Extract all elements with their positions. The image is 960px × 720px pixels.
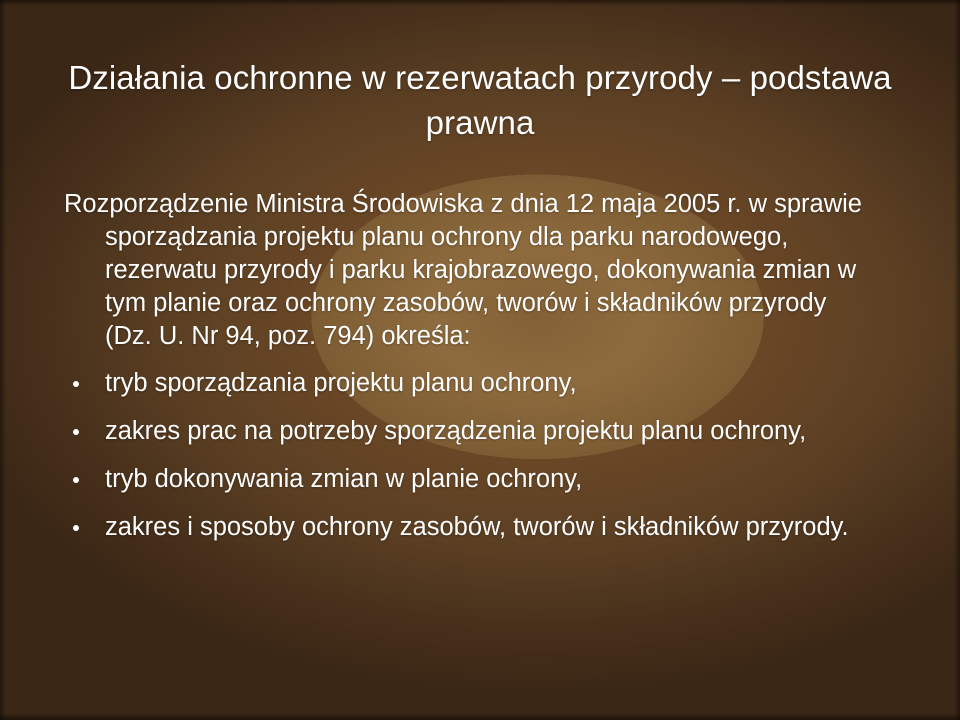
list-item-label: zakres i sposoby ochrony zasobów, tworów… [105, 513, 849, 541]
list-item: tryb dokonywania zmian w planie ochrony, [64, 463, 876, 496]
bullet-dot-icon [73, 381, 79, 387]
lead-paragraph: Rozporządzenie Ministra Środowiska z dni… [64, 188, 876, 353]
bullet-list: tryb sporządzania projektu planu ochrony… [64, 367, 876, 544]
bullet-dot-icon [73, 477, 79, 483]
slide-body: Rozporządzenie Ministra Środowiska z dni… [64, 188, 876, 544]
list-item-label: tryb dokonywania zmian w planie ochrony, [105, 465, 582, 493]
list-item-label: tryb sporządzania projektu planu ochrony… [105, 369, 577, 397]
list-item-label: zakres prac na potrzeby sporządzenia pro… [105, 417, 806, 445]
list-item: zakres prac na potrzeby sporządzenia pro… [64, 415, 876, 448]
list-item: tryb sporządzania projektu planu ochrony… [64, 367, 876, 400]
bullet-dot-icon [73, 429, 79, 435]
list-item: zakres i sposoby ochrony zasobów, tworów… [64, 511, 876, 544]
presentation-slide: Działania ochronne w rezerwatach przyrod… [0, 0, 960, 720]
bullet-dot-icon [73, 525, 79, 531]
slide-title: Działania ochronne w rezerwatach przyrod… [48, 55, 912, 145]
